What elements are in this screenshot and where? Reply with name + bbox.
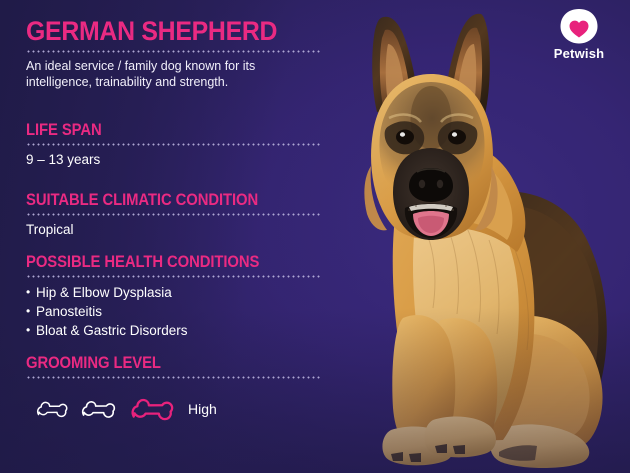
brand-logo[interactable]: Petwish [542,6,616,61]
list-item: Panosteitis [26,302,326,321]
grooming-level-dotted-rule [26,376,322,379]
title-dotted-rule [26,50,322,53]
section-heading-life-span: LIFE SPAN [26,121,296,140]
section-heading-grooming-level: GROOMING LEVEL [26,354,296,373]
climatic-condition-dotted-rule [26,213,322,216]
infographic-canvas: Petwish GERMAN SHEPHERD An ideal service… [0,0,630,473]
description-line-1: An ideal service / family dog known for … [26,58,326,74]
grooming-level-value: High [188,400,217,418]
grooming-rating: High [26,388,326,430]
paw-heart-icon [542,6,616,46]
section-climatic-condition: SUITABLE CLIMATIC CONDITION Tropical [26,191,326,239]
breed-description: An ideal service / family dog known for … [26,58,326,90]
health-conditions-dotted-rule [26,275,322,278]
bone-icon [72,393,118,425]
section-grooming-level: GROOMING LEVEL [26,354,326,430]
description-line-2: intelligence, trainability and strength. [26,74,326,90]
life-span-dotted-rule [26,143,322,146]
list-item: Bloat & Gastric Disorders [26,321,326,340]
section-life-span: LIFE SPAN 9 – 13 years [26,121,326,169]
content-column: GERMAN SHEPHERD An ideal service / famil… [26,16,326,430]
section-heading-climatic-condition: SUITABLE CLIMATIC CONDITION [26,191,296,210]
section-health-conditions: POSSIBLE HEALTH CONDITIONS Hip & Elbow D… [26,253,326,340]
section-heading-health-conditions: POSSIBLE HEALTH CONDITIONS [26,253,296,272]
life-span-value: 9 – 13 years [26,151,326,169]
health-conditions-list: Hip & Elbow Dysplasia Panosteitis Bloat … [26,283,326,340]
bone-icon [28,394,70,424]
dog-illustration [285,0,630,473]
page-title: GERMAN SHEPHERD [26,16,302,46]
bone-icon-filled [119,389,177,429]
brand-name: Petwish [542,47,616,61]
climatic-condition-value: Tropical [26,221,326,239]
list-item: Hip & Elbow Dysplasia [26,283,326,302]
